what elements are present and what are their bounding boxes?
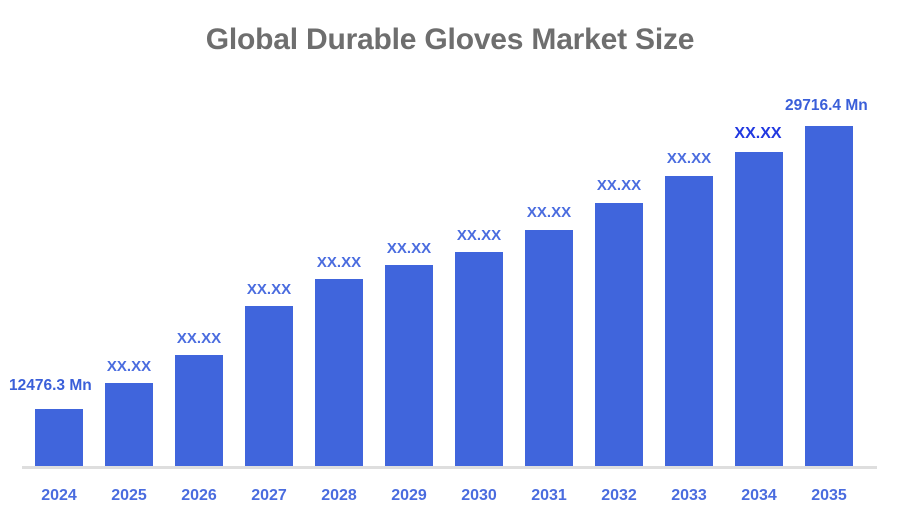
bar-2033[interactable]: [665, 176, 713, 466]
x-axis-label-2034: 2034: [735, 486, 783, 506]
bar-value-label-2028: XX.XX: [315, 254, 363, 271]
bar-value-label-2029: XX.XX: [385, 240, 433, 257]
bar-value-label-2032: XX.XX: [595, 177, 643, 194]
x-axis-label-2025: 2025: [105, 486, 153, 506]
bar-2024[interactable]: [35, 409, 83, 466]
bar-2031[interactable]: [525, 230, 573, 466]
bar-chart-plot-area: 12476.3 MnXX.XXXX.XXXX.XXXX.XXXX.XXXX.XX…: [0, 0, 900, 525]
x-axis-label-2035: 2035: [805, 486, 853, 506]
x-axis-label-2030: 2030: [455, 486, 503, 506]
x-axis-label-2029: 2029: [385, 486, 433, 506]
bar-value-label-2033: XX.XX: [665, 150, 713, 167]
x-axis-label-2024: 2024: [35, 486, 83, 506]
bar-value-label-2024: 12476.3 Mn: [9, 377, 92, 394]
bar-2027[interactable]: [245, 306, 293, 466]
bar-2025[interactable]: [105, 383, 153, 466]
chart-canvas: Global Durable Gloves Market Size 12476.…: [0, 0, 900, 525]
x-axis-baseline: [22, 466, 877, 469]
x-axis-label-2031: 2031: [525, 486, 573, 506]
bar-value-label-2026: XX.XX: [175, 330, 223, 347]
bar-value-label-2030: XX.XX: [455, 227, 503, 244]
bar-2030[interactable]: [455, 252, 503, 466]
bar-2032[interactable]: [595, 203, 643, 466]
x-axis-label-2026: 2026: [175, 486, 223, 506]
bar-2028[interactable]: [315, 279, 363, 466]
bar-value-label-2034: XX.XX: [734, 125, 782, 142]
bar-2035[interactable]: [805, 126, 853, 466]
bar-value-label-2027: XX.XX: [245, 281, 293, 298]
x-axis-label-2032: 2032: [595, 486, 643, 506]
x-axis-label-2028: 2028: [315, 486, 363, 506]
x-axis-label-2033: 2033: [665, 486, 713, 506]
x-axis-label-2027: 2027: [245, 486, 293, 506]
bar-value-label-2035: 29716.4 Mn: [785, 97, 868, 114]
bar-value-label-2025: XX.XX: [105, 358, 153, 375]
bar-value-label-2031: XX.XX: [525, 204, 573, 221]
bar-2034[interactable]: [735, 152, 783, 466]
bar-2029[interactable]: [385, 265, 433, 466]
bar-2026[interactable]: [175, 355, 223, 466]
